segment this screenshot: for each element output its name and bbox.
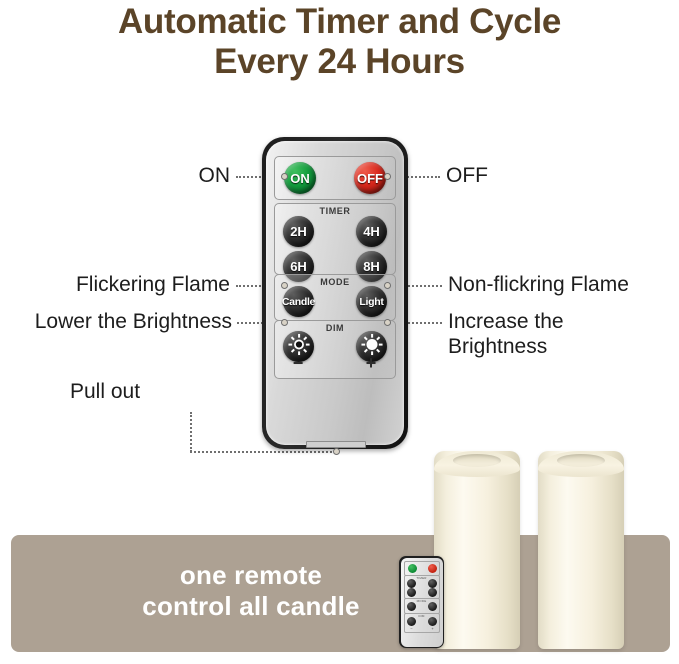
timer-2h-button[interactable]: 2H	[283, 216, 314, 247]
timer-4h-label: 4H	[363, 224, 380, 239]
mini-timer-8h[interactable]	[428, 588, 437, 597]
timer-8h-label: 8H	[363, 259, 380, 274]
timer-panel: TIMER 2H 4H 6H 8H	[274, 203, 396, 275]
marker-light	[384, 282, 391, 289]
on-button-label: ON	[290, 171, 310, 186]
product-infographic: Automatic Timer and Cycle Every 24 Hours…	[0, 0, 679, 664]
callout-off: OFF	[446, 163, 576, 188]
mini-off-button[interactable]	[428, 564, 437, 573]
callout-increase-brightness: Increase the Brightness	[448, 309, 608, 359]
mini-dim-minus: −	[407, 626, 417, 631]
marker-on	[281, 173, 288, 180]
marker-dim-down	[281, 319, 288, 326]
on-button[interactable]: ON	[284, 162, 316, 194]
candle-left-top	[434, 451, 520, 477]
mode-candle-button[interactable]: Candle	[283, 286, 314, 317]
callout-non-flickering-flame: Non-flickring Flame	[448, 272, 679, 297]
callout-on: ON	[130, 163, 230, 188]
timer-6h-label: 6H	[290, 259, 307, 274]
marker-dim-up	[384, 319, 391, 326]
dim-minus-sign: −	[284, 353, 312, 374]
mode-candle-label: Candle	[282, 296, 315, 308]
mini-mode-panel: MODE	[404, 598, 440, 614]
page-title: Automatic Timer and Cycle Every 24 Hours	[0, 2, 679, 82]
marker-candle	[281, 282, 288, 289]
remote-face: ON OFF TIMER 2H 4H 6H 8H	[266, 141, 404, 445]
mini-remote-control[interactable]: TIMER MODE DIM − +	[399, 556, 444, 648]
candle-right-well	[557, 454, 605, 467]
timer-2h-label: 2H	[290, 224, 307, 239]
title-line-1: Automatic Timer and Cycle	[118, 2, 561, 41]
candle-right	[538, 451, 624, 649]
remote-control[interactable]: ON OFF TIMER 2H 4H 6H 8H	[262, 137, 408, 449]
mini-on-button[interactable]	[408, 564, 417, 573]
battery-tab[interactable]	[306, 441, 366, 448]
candle-right-top	[538, 451, 624, 477]
callout-lower-brightness: Lower the Brightness	[0, 309, 232, 334]
mode-light-button[interactable]: Light	[356, 286, 387, 317]
mini-mode-candle[interactable]	[407, 602, 416, 611]
mini-timer-4h[interactable]	[428, 579, 437, 588]
leader-line-pullout-vertical	[190, 412, 192, 452]
mini-dim-panel: DIM − +	[404, 613, 440, 633]
mode-panel: MODE Candle Light	[274, 274, 396, 321]
leader-line-pullout-horizontal	[190, 451, 336, 453]
callout-flickering-flame: Flickering Flame	[20, 272, 230, 297]
callout-pull-out: Pull out	[70, 379, 230, 404]
marker-battery-tab	[333, 448, 340, 455]
title-line-2: Every 24 Hours	[0, 42, 679, 82]
mode-section-label: MODE	[275, 277, 395, 287]
mini-mode-light[interactable]	[428, 602, 437, 611]
mini-timer-2h[interactable]	[407, 579, 416, 588]
mini-dim-plus: +	[428, 626, 438, 631]
marker-off	[384, 173, 391, 180]
candle-left-well	[453, 454, 501, 467]
off-button[interactable]: OFF	[354, 162, 386, 194]
mini-timer-6h[interactable]	[407, 588, 416, 597]
timer-4h-button[interactable]: 4H	[356, 216, 387, 247]
power-panel: ON OFF	[274, 156, 396, 200]
dim-panel: DIM	[274, 320, 396, 379]
timer-section-label: TIMER	[275, 206, 395, 216]
mode-light-label: Light	[359, 296, 383, 308]
mini-timer-panel: TIMER	[404, 575, 440, 599]
mini-power-panel	[404, 561, 440, 576]
mini-remote-face: TIMER MODE DIM − +	[401, 558, 443, 647]
off-button-label: OFF	[357, 171, 383, 186]
dim-plus-sign: +	[357, 353, 385, 374]
